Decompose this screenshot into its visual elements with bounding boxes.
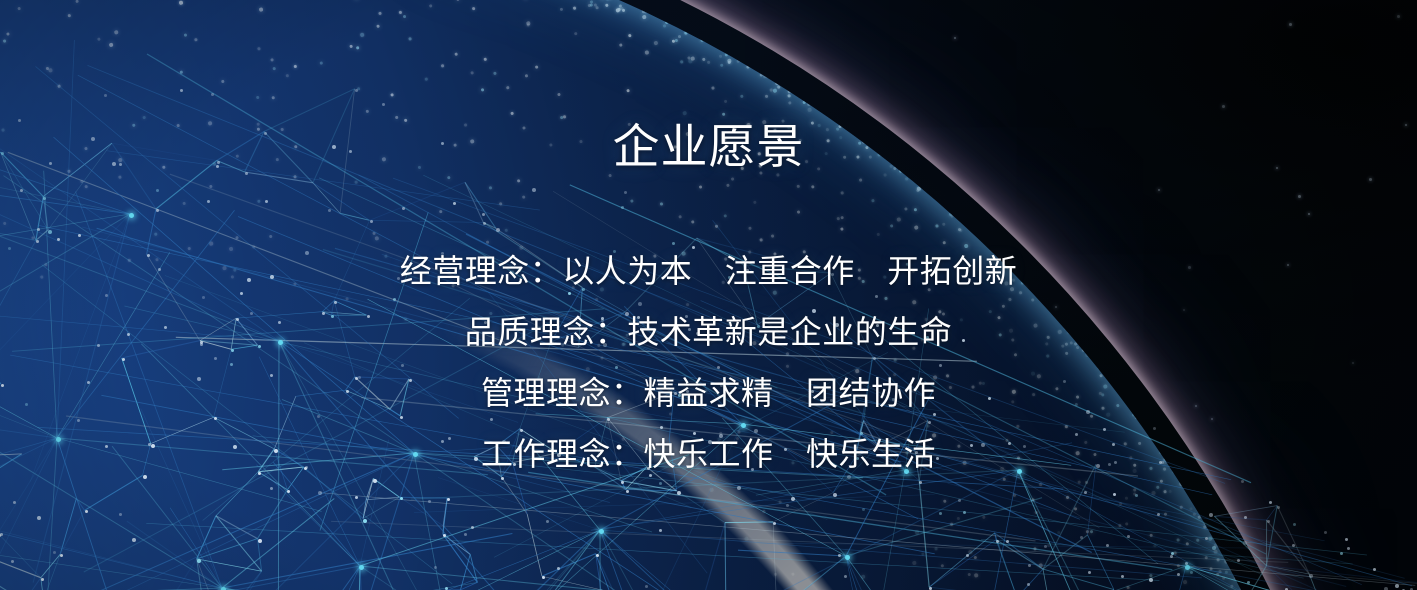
- presentation-slide: 企业愿景 经营理念：以人为本 注重合作 开拓创新 品质理念：技术革新是企业的生命…: [0, 0, 1417, 590]
- vision-line: 经营理念：以人为本 注重合作 开拓创新: [400, 241, 1018, 302]
- page-title: 企业愿景: [0, 118, 1417, 176]
- vision-line: 工作理念：快乐工作 快乐生活: [481, 424, 936, 485]
- vision-line: 品质理念：技术革新是企业的生命: [465, 302, 953, 363]
- vision-line: 管理理念：精益求精 团结协作: [481, 363, 936, 424]
- vision-statement-list: 经营理念：以人为本 注重合作 开拓创新 品质理念：技术革新是企业的生命 管理理念…: [0, 241, 1417, 485]
- slide-content: 企业愿景 经营理念：以人为本 注重合作 开拓创新 品质理念：技术革新是企业的生命…: [0, 0, 1417, 590]
